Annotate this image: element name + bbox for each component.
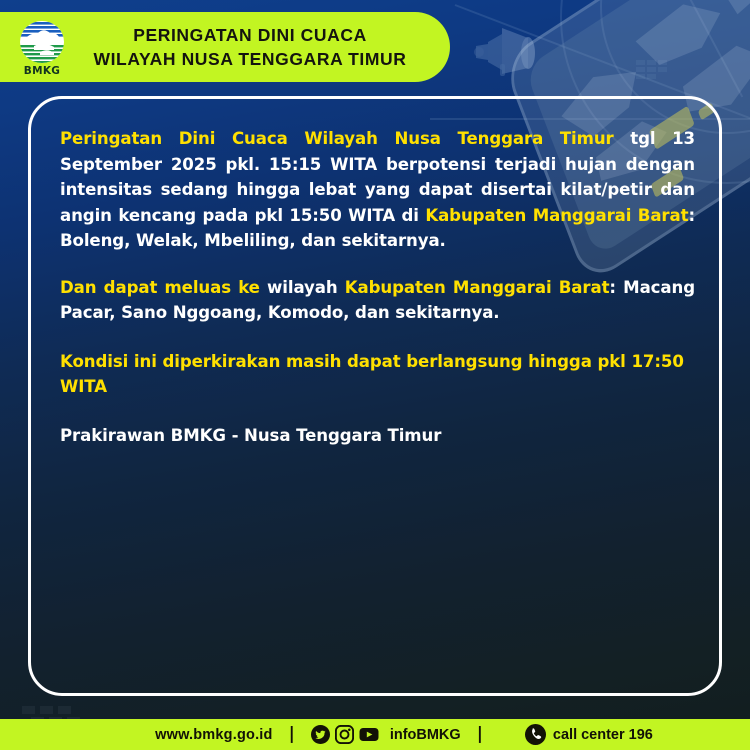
signature-text: Prakirawan BMKG - Nusa Tenggara Timur (60, 426, 441, 445)
footer-website[interactable]: www.bmkg.go.id (155, 727, 272, 743)
decor-line-3 (685, 0, 743, 97)
youtube-icon[interactable] (359, 725, 379, 744)
bmkg-logo-label: BMKG (24, 65, 60, 77)
p2-highlight-region: Kabupaten Manggarai Barat (345, 278, 610, 297)
decor-grid-dots (636, 60, 676, 86)
footer-separator-2: | (477, 726, 483, 743)
warning-paragraph-3: Kondisi ini diperkirakan masih dapat ber… (60, 349, 695, 400)
weather-warning-poster: BMKG PERINGATAN DINI CUACA WILAYAH NUSA … (0, 0, 750, 750)
footer-bar: www.bmkg.go.id | infoBMKG | (0, 719, 750, 750)
warning-paragraph-1: Peringatan Dini Cuaca Wilayah Nusa Tengg… (60, 126, 695, 254)
footer-social-group: infoBMKG (311, 725, 461, 744)
header-title-line-1: PERINGATAN DINI CUACA (90, 23, 410, 47)
instagram-icon[interactable] (335, 725, 354, 744)
footer-social-handle[interactable]: infoBMKG (390, 727, 461, 743)
p1-highlight-region: Kabupaten Manggarai Barat (425, 206, 688, 225)
header-title-line-2: WILAYAH NUSA TENGGARA TIMUR (90, 47, 410, 71)
megaphone-icon (466, 24, 538, 76)
warning-signature: Prakirawan BMKG - Nusa Tenggara Timur (60, 423, 695, 449)
warning-paragraph-2: Dan dapat meluas ke wilayah Kabupaten Ma… (60, 275, 695, 326)
bmkg-logo: BMKG (12, 20, 72, 78)
p2-text-1: wilayah (260, 278, 345, 297)
footer-call-center-group[interactable]: call center 196 (525, 724, 653, 745)
p1-highlight-title: Peringatan Dini Cuaca Wilayah Nusa Tengg… (60, 129, 614, 148)
header-banner: BMKG PERINGATAN DINI CUACA WILAYAH NUSA … (0, 12, 450, 82)
phone-icon[interactable] (525, 724, 546, 745)
p3-highlight-duration: Kondisi ini diperkirakan masih dapat ber… (60, 352, 684, 397)
p2-highlight-lead: Dan dapat meluas ke (60, 278, 260, 297)
twitter-icon[interactable] (311, 725, 330, 744)
warning-content-card: Peringatan Dini Cuaca Wilayah Nusa Tengg… (28, 96, 722, 696)
warning-text-container: Peringatan Dini Cuaca Wilayah Nusa Tengg… (60, 126, 695, 467)
bmkg-logo-icon (18, 20, 66, 66)
footer-separator-1: | (289, 726, 295, 743)
footer-call-center-text[interactable]: call center 196 (553, 727, 653, 743)
header-title-block: PERINGATAN DINI CUACA WILAYAH NUSA TENGG… (90, 23, 410, 71)
